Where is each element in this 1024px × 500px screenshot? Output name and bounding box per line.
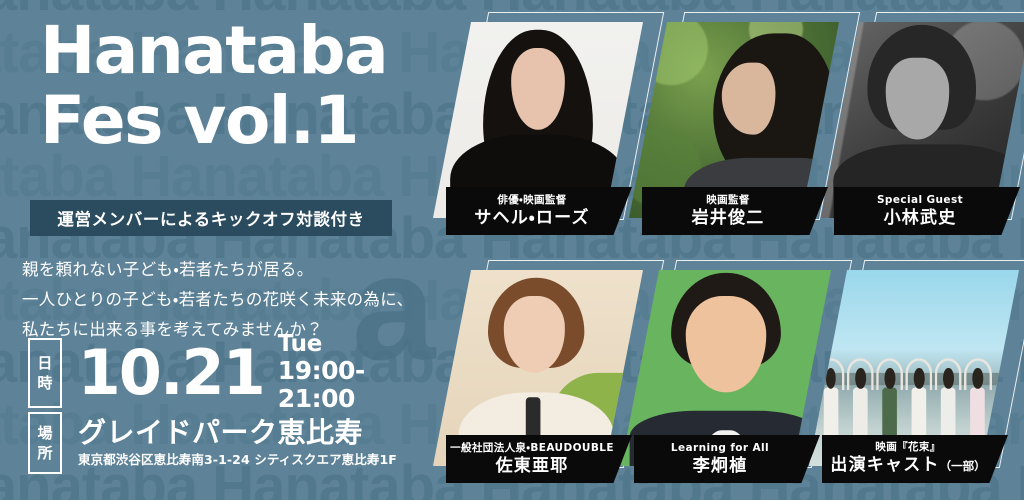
schedule-row: 日 時 10.21 Tue 19:00-21:00 bbox=[28, 332, 440, 413]
lead-line-2: 一人ひとりの子ども・若者たちの花咲く未来の為に、 bbox=[22, 285, 437, 315]
left-column: Hanataba Fes vol.1 運営メンバーによるキックオフ対談付き 親を… bbox=[0, 0, 440, 500]
schedule-label: 日 時 bbox=[28, 338, 62, 408]
lead-line-1: 親を頼れない子ども・若者たちが居る。 bbox=[22, 255, 437, 285]
guest-card-cast[interactable]: 映画『花束』 出演キャスト（一部） bbox=[828, 266, 1010, 481]
venue-label-char-1: 場 bbox=[37, 423, 52, 443]
guest-card-sahel[interactable]: 俳優・映画監督 サヘル・ローズ bbox=[452, 18, 634, 233]
guest-role: 俳優・映画監督 bbox=[497, 193, 566, 207]
guest-card-sato[interactable]: 一般社団法人泉・BEAUDOUBLE 佐東亜耶 bbox=[452, 266, 634, 481]
guest-name: 佐東亜耶 bbox=[496, 455, 569, 478]
guest-role: 一般社団法人泉・BEAUDOUBLE bbox=[450, 441, 614, 455]
guest-role: Special Guest bbox=[877, 193, 963, 207]
schedule-label-char-2: 時 bbox=[37, 373, 52, 393]
schedule-label-char-1: 日 bbox=[37, 353, 52, 373]
guest-role: Learning for All bbox=[671, 441, 769, 455]
title-line-1: Hanataba bbox=[40, 16, 440, 86]
page-title: Hanataba Fes vol.1 bbox=[40, 16, 440, 156]
event-poster: Hanataba Hanataba Hanataba Hanataba Hana… bbox=[0, 0, 1024, 500]
event-date: 10.21 bbox=[78, 342, 264, 404]
guest-role: 映画『花束』 bbox=[875, 440, 940, 454]
guest-caption: Special Guest 小林武史 bbox=[834, 187, 1020, 235]
guest-card-iwai[interactable]: 映画監督 岩井俊二 bbox=[648, 18, 830, 233]
guest-card-lee[interactable]: Learning for All 李炯植 bbox=[640, 266, 822, 481]
guest-caption: 映画『花束』 出演キャスト（一部） bbox=[822, 435, 1008, 483]
guest-caption: Learning for All 李炯植 bbox=[634, 435, 820, 483]
venue-address: 東京都渋谷区恵比寿南3-1-24 シティスクエア恵比寿1F bbox=[78, 450, 397, 470]
guest-name-main: 出演キャスト bbox=[830, 455, 939, 475]
guest-name-sub: （一部） bbox=[940, 459, 986, 473]
venue-name: グレイドパーク恵比寿 bbox=[78, 416, 397, 450]
venue-row: 場 所 グレイドパーク恵比寿 東京都渋谷区恵比寿南3-1-24 シティスクエア恵… bbox=[28, 412, 397, 474]
title-line-2: Fes vol.1 bbox=[40, 86, 440, 156]
guest-caption: 一般社団法人泉・BEAUDOUBLE 佐東亜耶 bbox=[446, 435, 632, 483]
event-time: 19:00-21:00 bbox=[278, 357, 440, 413]
guest-caption: 俳優・映画監督 サヘル・ローズ bbox=[446, 187, 632, 235]
event-day-of-week: Tue bbox=[278, 332, 440, 357]
kickoff-badge: 運営メンバーによるキックオフ対談付き bbox=[30, 200, 392, 236]
guest-name: 小林武史 bbox=[884, 207, 957, 230]
schedule-detail: Tue 19:00-21:00 bbox=[278, 332, 440, 413]
guest-card-kobayashi[interactable]: Special Guest 小林武史 bbox=[840, 18, 1022, 233]
guest-caption: 映画監督 岩井俊二 bbox=[642, 187, 828, 235]
guest-name: 岩井俊二 bbox=[692, 207, 765, 230]
guest-name: 李炯植 bbox=[693, 455, 748, 478]
venue-label-char-2: 所 bbox=[37, 443, 52, 463]
venue-detail: グレイドパーク恵比寿 東京都渋谷区恵比寿南3-1-24 シティスクエア恵比寿1F bbox=[78, 416, 397, 470]
guest-name: サヘル・ローズ bbox=[474, 207, 589, 230]
guest-name: 出演キャスト（一部） bbox=[830, 454, 985, 478]
guest-role: 映画監督 bbox=[706, 193, 750, 207]
venue-label: 場 所 bbox=[28, 412, 62, 474]
